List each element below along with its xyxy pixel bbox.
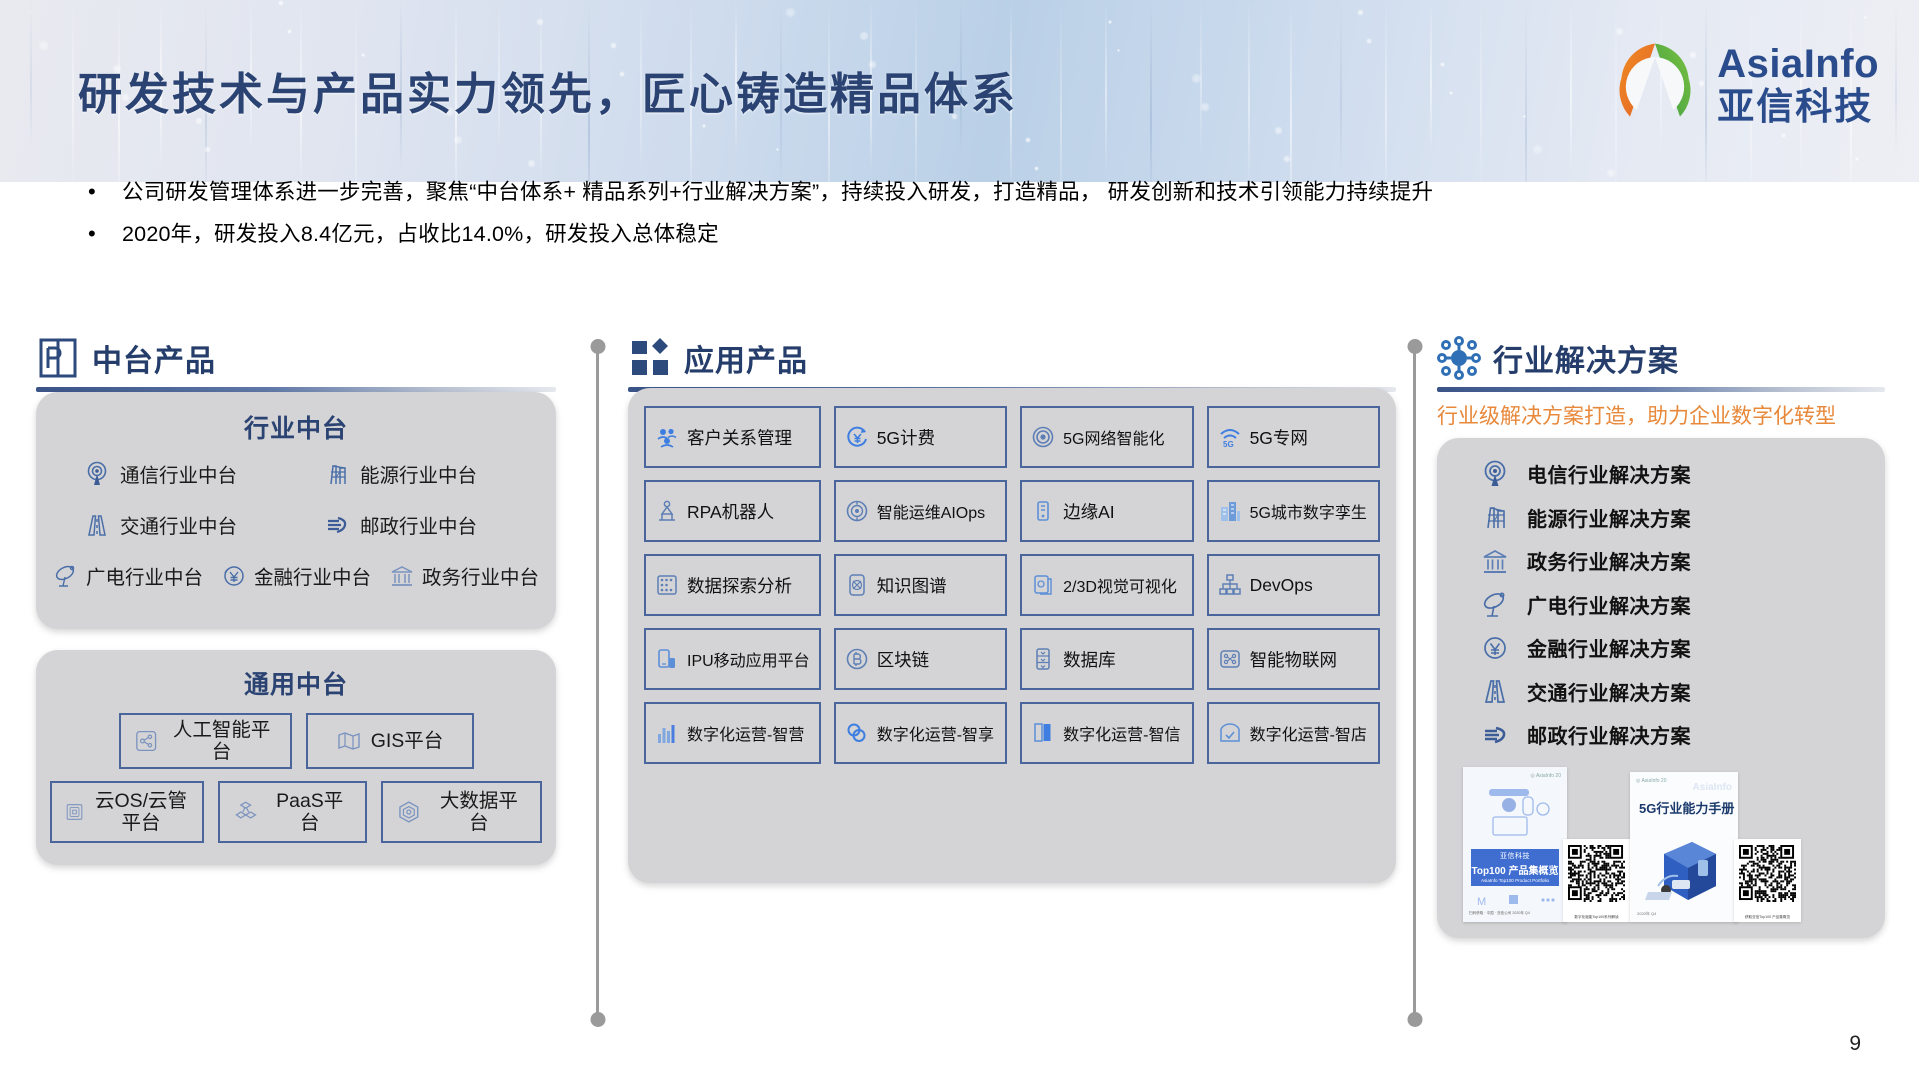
platform-label: 大数据平台: [431, 790, 527, 835]
brochure-brand: 亚信科技: [1471, 851, 1559, 861]
product-label: 边缘AI: [1063, 499, 1115, 524]
application-product-card[interactable]: 数字化运营-智营: [644, 702, 821, 764]
platform-label: PaaS平台: [267, 790, 352, 835]
solutions-list: 电信行业解决方案 能源行业解决方案 政务行业解决方案 广电行业解决方案 金融行业…: [1437, 452, 1885, 757]
solutions-panel: 电信行业解决方案 能源行业解决方案 政务行业解决方案 广电行业解决方案 金融行业…: [1437, 438, 1885, 938]
brochure-title-band: 亚信科技 Top100 产品集概览 AsiaInfo Top100 Produc…: [1471, 849, 1559, 886]
satellite-dish-icon: [53, 563, 79, 589]
yuan-coin-icon: [1481, 634, 1509, 662]
application-product-card[interactable]: 知识图谱: [834, 554, 1007, 616]
asiainfo-mobius-logo-icon: [1607, 36, 1703, 132]
product-label: 2/3D视觉可视化: [1063, 573, 1177, 597]
column-industry-solutions: 行业解决方案 行业级解决方案打造，助力企业数字化转型 电信行业解决方案 能源行业…: [1437, 330, 1885, 430]
qr-code-icon: [1739, 845, 1796, 902]
list-item[interactable]: 能源行业中台: [296, 459, 556, 488]
platform-card[interactable]: PaaS平台: [218, 781, 367, 843]
bigdata-hex-icon: [396, 799, 422, 825]
list-item[interactable]: 通信行业中台: [36, 459, 296, 488]
product-label: 5G网络智能化: [1063, 425, 1164, 449]
knowledge-graph-icon: [845, 573, 869, 597]
qr-caption: 获取亚信Top100 产品集概览: [1734, 915, 1801, 920]
column-application-products: 应用产品 以匠心铸造精品，赋能百行千业 客户关系管理 5G计费 5G网络智能化5…: [628, 330, 1396, 430]
energy-pylon-icon: [324, 461, 350, 487]
panel-title: 行业中台: [36, 409, 556, 445]
solution-label: 邮政行业解决方案: [1527, 720, 1691, 749]
application-product-card[interactable]: 智能运维AIOps: [834, 480, 1007, 542]
item-label: 能源行业中台: [360, 459, 477, 488]
product-label: 智能运维AIOps: [877, 499, 985, 523]
billing-yuan-icon: [845, 425, 869, 449]
brochure-5g[interactable]: ◎ AsiaInfo 20 AsiaInfo 5G行业能力手册 2020年 Q4: [1630, 772, 1738, 922]
column-title: 应用产品: [684, 336, 808, 380]
application-product-card[interactable]: RPA机器人: [644, 480, 821, 542]
column-rule: [1437, 387, 1885, 392]
divider-cap-bottom: [590, 1012, 605, 1027]
platform-label: GIS平台: [371, 730, 444, 752]
list-item: • 公司研发管理体系进一步完善，聚焦“中台体系+ 精品系列+行业解决方案”，持续…: [88, 175, 1878, 206]
middle-platform-icon: [36, 336, 80, 380]
application-product-card[interactable]: 5G网络智能化: [1020, 406, 1193, 468]
platform-card[interactable]: 人工智能平台: [119, 713, 292, 769]
application-product-card[interactable]: 区块链: [834, 628, 1007, 690]
general-row-2: 云OS/云管平台 PaaS平台: [50, 781, 542, 843]
wifi-5g-icon: 5G: [1218, 425, 1242, 449]
page-title: 研发技术与产品实力领先，匠心铸造精品体系: [78, 58, 1018, 122]
industry-items-row3: 广电行业中台 金融行业中台 政务行业中台: [36, 561, 556, 590]
solution-label: 电信行业解决方案: [1527, 459, 1691, 488]
solution-item[interactable]: 广电行业解决方案: [1437, 583, 1885, 627]
application-grid: 客户关系管理 5G计费 5G网络智能化5G 5G专网 RPA机器人 智能运维AI…: [644, 406, 1380, 764]
application-product-card[interactable]: 5G 5G专网: [1207, 406, 1380, 468]
store-icon: [1218, 721, 1242, 745]
product-label: 5G城市数字孪生: [1250, 499, 1367, 523]
bullet-marker: •: [88, 223, 122, 245]
highway-icon: [84, 512, 110, 538]
application-product-card[interactable]: 5G计费: [834, 406, 1007, 468]
blockchain-bitcoin-icon: [845, 647, 869, 671]
solution-label: 广电行业解决方案: [1527, 590, 1691, 619]
application-product-card[interactable]: DevOps: [1207, 554, 1380, 616]
cloud-os-icon: [65, 799, 84, 825]
satellite-dish-icon: [1481, 590, 1509, 618]
energy-pylon-icon: [1481, 503, 1509, 531]
platform-card[interactable]: 云OS/云管平台: [50, 781, 204, 843]
product-label: 5G计费: [877, 425, 935, 450]
product-label: 数字化运营-智营: [687, 721, 804, 745]
telecom-tower-icon: [84, 461, 110, 487]
product-label: 客户关系管理: [687, 425, 792, 450]
application-product-card[interactable]: 5G城市数字孪生: [1207, 480, 1380, 542]
general-row-1: 人工智能平台 GIS平台: [50, 713, 542, 769]
qr-code-5g[interactable]: 获取亚信Top100 产品集概览: [1734, 839, 1801, 922]
solution-label: 金融行业解决方案: [1527, 633, 1691, 662]
qr-caption: 数字化赋能Top100系列解读: [1563, 915, 1630, 920]
column-subtitle: 行业级解决方案打造，助力企业数字化转型: [1437, 403, 1885, 430]
application-product-card[interactable]: 边缘AI: [1020, 480, 1193, 542]
brochure-footer: 扫码获取 · 中国 · 亚信公司 2020年 Q4: [1469, 911, 1530, 916]
general-platform-panel: 通用中台 人工智能平台: [36, 650, 556, 865]
item-label: 通信行业中台: [120, 459, 237, 488]
list-item[interactable]: 广电行业中台: [53, 561, 203, 590]
telecom-tower-icon: [1481, 460, 1509, 488]
application-product-card[interactable]: 数据探索分析: [644, 554, 821, 616]
brochure-logo: ◎ AsiaInfo 20: [1636, 778, 1667, 784]
bar-chart-icon: [655, 721, 679, 745]
application-product-card[interactable]: 2/3D视觉可视化: [1020, 554, 1193, 616]
city-buildings-icon: [1218, 499, 1242, 523]
industry-platform-panel: 行业中台 通信行业中台: [36, 392, 556, 629]
solution-item[interactable]: 能源行业解决方案: [1437, 496, 1885, 540]
product-label: DevOps: [1250, 575, 1313, 596]
svg-text:5G: 5G: [1223, 440, 1234, 449]
application-product-card[interactable]: 数据库: [1020, 628, 1193, 690]
product-label: 5G专网: [1250, 425, 1308, 450]
column-divider-1: [596, 346, 599, 1020]
application-squares-icon: [628, 336, 672, 380]
bullet-list: • 公司研发管理体系进一步完善，聚焦“中台体系+ 精品系列+行业解决方案”，持续…: [88, 175, 1878, 259]
solution-label: 能源行业解决方案: [1527, 503, 1691, 532]
column-middle-platform: 中台产品 中台体系持续演进，构建行业技术底座 行业中台 通信行业中台: [36, 330, 556, 430]
list-item[interactable]: 金融行业中台: [221, 561, 371, 590]
bullet-text: 公司研发管理体系进一步完善，聚焦“中台体系+ 精品系列+行业解决方案”，持续投入…: [122, 175, 1433, 206]
ai-network-icon: [134, 728, 158, 754]
postal-icon: [1481, 721, 1509, 749]
platform-card[interactable]: GIS平台: [306, 713, 474, 769]
solution-label: 交通行业解决方案: [1527, 677, 1691, 706]
application-product-card[interactable]: 数字化运营-智店: [1207, 702, 1380, 764]
svg-text:M: M: [1477, 896, 1486, 908]
column-header: 应用产品: [628, 330, 1396, 380]
product-label: 数据库: [1063, 647, 1116, 672]
platform-label: 云OS/云管平台: [93, 790, 189, 835]
edge-server-icon: [1031, 499, 1055, 523]
divider-cap-top: [590, 339, 605, 354]
column-title: 行业解决方案: [1493, 336, 1679, 380]
application-product-card[interactable]: 智能物联网: [1207, 628, 1380, 690]
asiainfo-logo: AsiaInfo 亚信科技: [1607, 36, 1879, 132]
devops-tree-icon: [1218, 573, 1242, 597]
platform-label: 人工智能平台: [167, 719, 277, 764]
highway-icon: [1481, 677, 1509, 705]
brochure-top100[interactable]: ◎ AsiaInfo 20 M: [1463, 767, 1567, 922]
network-target-icon: [1031, 425, 1055, 449]
solution-molecule-icon: [1437, 336, 1481, 380]
product-label: 智能物联网: [1250, 647, 1338, 672]
divider-cap-top: [1407, 339, 1422, 354]
divider-cap-bottom: [1407, 1012, 1422, 1027]
bullet-text: 2020年，研发投入8.4亿元，占收比14.0%，研发投入总体稳定: [122, 217, 719, 248]
item-label: 交通行业中台: [120, 510, 237, 539]
application-product-card[interactable]: 客户关系管理: [644, 406, 821, 468]
product-label: IPU移动应用平台: [687, 647, 810, 671]
mobile-device-icon: [655, 647, 679, 671]
robot-icon: [655, 499, 679, 523]
data-explore-icon: [655, 573, 679, 597]
solution-item[interactable]: 邮政行业解决方案: [1437, 713, 1885, 757]
list-item[interactable]: 政务行业中台: [389, 561, 539, 590]
brochure-footer: 2020年 Q4: [1637, 911, 1656, 917]
bullet-marker: •: [88, 181, 122, 203]
application-product-card[interactable]: IPU移动应用平台: [644, 628, 821, 690]
slide: 研发技术与产品实力领先，匠心铸造精品体系: [0, 0, 1919, 1080]
solution-item[interactable]: 政务行业解决方案: [1437, 539, 1885, 583]
product-label: 数字化运营-智店: [1250, 721, 1367, 745]
brochure-subtitle: AsiaInfo Top100 Product Portfolio: [1471, 878, 1559, 883]
government-bank-icon: [1481, 547, 1509, 575]
column-title: 中台产品: [92, 336, 216, 380]
solution-item[interactable]: 金融行业解决方案: [1437, 626, 1885, 670]
brochure-group: ◎ AsiaInfo 20 M: [1437, 767, 1885, 922]
platform-card[interactable]: 大数据平台: [381, 781, 542, 843]
panel-title: 通用中台: [50, 665, 542, 701]
qr-code-top100[interactable]: 数字化赋能Top100系列解读: [1563, 839, 1630, 922]
application-product-card[interactable]: 数字化运营-智信: [1020, 702, 1193, 764]
list-item[interactable]: 交通行业中台: [36, 510, 296, 539]
brochure-watermark: AsiaInfo: [1693, 782, 1732, 793]
brochure-illustration: [1630, 820, 1738, 915]
logo-text-en: AsiaInfo: [1717, 44, 1879, 84]
product-label: 数字化运营-智信: [1063, 721, 1180, 745]
application-product-card[interactable]: 数字化运营-智享: [834, 702, 1007, 764]
visual-3d-icon: [1031, 573, 1055, 597]
column-header: 中台产品: [36, 330, 556, 380]
government-bank-icon: [389, 563, 415, 589]
product-label: 知识图谱: [877, 573, 947, 598]
postal-icon: [324, 512, 350, 538]
column-divider-2: [1413, 346, 1416, 1020]
iot-icon: [1218, 647, 1242, 671]
item-label: 金融行业中台: [254, 561, 371, 590]
item-label: 政务行业中台: [422, 561, 539, 590]
yuan-coin-icon: [221, 563, 247, 589]
list-item[interactable]: 邮政行业中台: [296, 510, 556, 539]
logo-text-cn: 亚信科技: [1717, 88, 1879, 125]
qr-code-icon: [1568, 845, 1625, 902]
product-label: 数据探索分析: [687, 573, 792, 598]
brochure-illustration: M: [1463, 767, 1567, 922]
application-grid-panel: 客户关系管理 5G计费 5G网络智能化5G 5G专网 RPA机器人 智能运维AI…: [628, 388, 1396, 883]
panels-icon: [1031, 721, 1055, 745]
brochure-title: Top100 产品集概览: [1471, 862, 1559, 877]
database-icon: [1031, 647, 1055, 671]
product-label: 区块链: [877, 647, 930, 672]
item-label: 邮政行业中台: [360, 510, 477, 539]
product-label: 数字化运营-智享: [877, 721, 994, 745]
solution-label: 政务行业解决方案: [1527, 546, 1691, 575]
list-item: • 2020年，研发投入8.4亿元，占收比14.0%，研发投入总体稳定: [88, 217, 1878, 248]
brochure-title: 5G行业能力手册: [1639, 798, 1734, 817]
column-header: 行业解决方案: [1437, 330, 1885, 380]
solution-item[interactable]: 电信行业解决方案: [1437, 452, 1885, 496]
product-label: RPA机器人: [687, 499, 774, 524]
solution-item[interactable]: 交通行业解决方案: [1437, 670, 1885, 714]
link-rings-icon: [845, 721, 869, 745]
aiops-icon: [845, 499, 869, 523]
map-icon: [336, 728, 362, 754]
item-label: 广电行业中台: [86, 561, 203, 590]
paas-cubes-icon: [233, 799, 258, 825]
crm-people-icon: [655, 425, 679, 449]
industry-items-grid: 通信行业中台 能源行业中台: [36, 459, 556, 539]
page-number: 9: [1849, 1032, 1861, 1056]
header-banner: 研发技术与产品实力领先，匠心铸造精品体系: [0, 0, 1919, 182]
